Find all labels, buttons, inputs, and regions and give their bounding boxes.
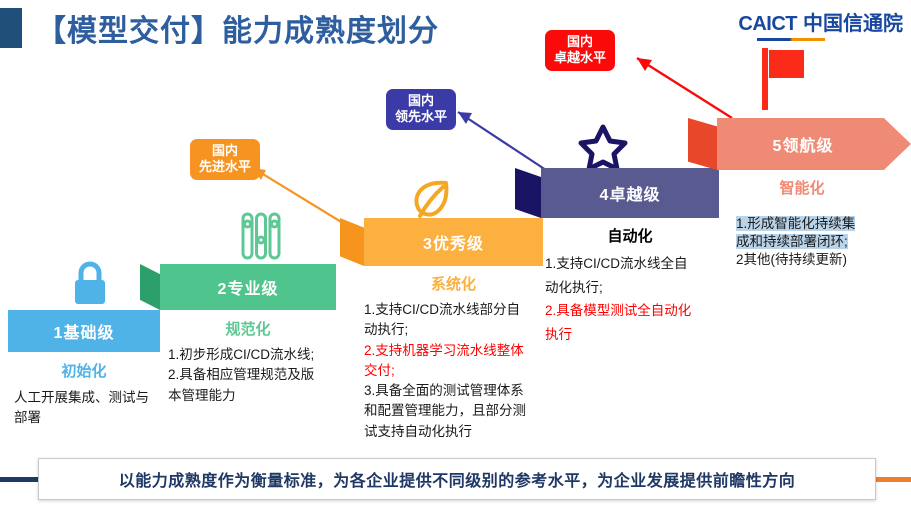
callout-excellent[interactable]: 国内 卓越水平 <box>545 30 615 71</box>
slide-canvas: 【模型交付】能力成熟度划分 CAICT 中国信通院 <box>0 0 911 510</box>
step-5-body-line-1: 1.形成智能化持续集 <box>736 216 855 231</box>
page-title: 【模型交付】能力成熟度划分 <box>36 6 439 50</box>
step-3-body-line-1: 1.支持CI/CD流水线部分自 <box>364 300 550 320</box>
lock-icon <box>68 258 112 308</box>
step-3-face: 3优秀级 <box>364 218 543 266</box>
flag-icon <box>762 48 806 110</box>
callout-advanced-line-2: 先进水平 <box>199 159 251 175</box>
step-3-block[interactable]: 3优秀级 <box>364 218 543 266</box>
caict-logo: CAICT 中国信通院 <box>738 14 903 34</box>
callout-leading-line-1: 国内 <box>395 93 447 109</box>
step-1-label: 1基础级 <box>54 319 115 343</box>
step-4-body-line-4: 执行 <box>545 323 727 347</box>
step-5-label: 5领航级 <box>773 132 834 156</box>
step-5-body: 1.形成智能化持续集 成和持续部署闭环; 2其他(待持续更新) <box>736 215 911 270</box>
step-2-block[interactable]: 2专业级 <box>160 264 336 310</box>
step-3-side-face <box>340 218 364 266</box>
step-3-body-line-6: 和配置管理能力，且部分测 <box>364 401 550 421</box>
step-1-body-line-1: 人工开展集成、测试与 <box>14 388 164 408</box>
step-2-side-face <box>140 264 160 310</box>
step-4-side-face <box>515 168 541 218</box>
callout-excellent-line-2: 卓越水平 <box>554 50 606 66</box>
step-3-body: 1.支持CI/CD流水线部分自 动执行; 2.支持机器学习流水线整体 交付; 3… <box>364 300 550 442</box>
step-2-body-line-1: 1.初步形成CI/CD流水线; <box>168 345 346 365</box>
step-2-face: 2专业级 <box>160 264 336 310</box>
step-3-label: 3优秀级 <box>423 230 484 254</box>
step-1-face: 1基础级 <box>8 310 160 352</box>
step-5-body-line-2: 成和持续部署闭环; <box>736 234 848 249</box>
step-4-subtitle: 自动化 <box>541 225 719 246</box>
step-1-block[interactable]: 1基础级 <box>8 310 160 352</box>
step-5-face: 5领航级 <box>717 118 911 170</box>
step-5-subtitle: 智能化 <box>717 177 887 198</box>
step-3-body-line-3: 2.支持机器学习流水线整体 <box>364 341 550 361</box>
step-2-subtitle: 规范化 <box>160 318 336 339</box>
step-1-subtitle: 初始化 <box>8 360 160 381</box>
step-5-block[interactable]: 5领航级 <box>717 118 911 170</box>
step-4-face: 4卓越级 <box>541 168 719 218</box>
step-4-body-line-2: 动化执行; <box>545 276 727 300</box>
logo-chinese-text: 中国信通院 <box>803 14 903 34</box>
step-4-label: 4卓越级 <box>600 181 661 205</box>
step-2-body-line-2: 2.具备相应管理规范及版 <box>168 365 346 385</box>
step-4-body-line-3: 2.具备模型测试全自动化 <box>545 299 727 323</box>
callout-excellent-line-1: 国内 <box>554 34 606 50</box>
callout-leading[interactable]: 国内 领先水平 <box>386 89 456 130</box>
step-1-body: 人工开展集成、测试与 部署 <box>14 388 164 429</box>
footer-banner: 以能力成熟度作为衡量标准，为各企业提供不同级别的参考水平，为企业发展提供前瞻性方… <box>38 458 876 500</box>
step-5-side-face <box>688 118 717 170</box>
step-4-body: 1.支持CI/CD流水线全自 动化执行; 2.具备模型测试全自动化 执行 <box>545 252 727 347</box>
logo-underline <box>757 38 825 41</box>
callout-advanced-line-1: 国内 <box>199 143 251 159</box>
step-4-block[interactable]: 4卓越级 <box>541 168 719 218</box>
leaf-icon <box>406 175 454 223</box>
logo-caict-text: CAICT <box>738 14 797 34</box>
step-1-body-line-2: 部署 <box>14 408 164 428</box>
callout-advanced[interactable]: 国内 先进水平 <box>190 139 260 180</box>
step-3-body-line-7: 试支持自动化执行 <box>364 422 550 442</box>
footer-text: 以能力成熟度作为衡量标准，为各企业提供不同级别的参考水平，为企业发展提供前瞻性方… <box>119 467 796 491</box>
title-accent-bar <box>0 8 22 48</box>
step-3-subtitle: 系统化 <box>364 273 543 294</box>
step-2-label: 2专业级 <box>218 275 279 299</box>
step-2-body: 1.初步形成CI/CD流水线; 2.具备相应管理规范及版 本管理能力 <box>168 345 346 406</box>
step-5-body-line-3: 2其他(待持续更新) <box>736 251 911 269</box>
step-2-body-line-3: 本管理能力 <box>168 386 346 406</box>
step-3-body-line-2: 动执行; <box>364 320 550 340</box>
callout-leading-line-2: 领先水平 <box>395 109 447 125</box>
step-4-body-line-1: 1.支持CI/CD流水线全自 <box>545 252 727 276</box>
sliders-icon <box>240 212 282 260</box>
step-3-body-line-4: 交付; <box>364 361 550 381</box>
step-3-body-line-5: 3.具备全面的测试管理体系 <box>364 381 550 401</box>
